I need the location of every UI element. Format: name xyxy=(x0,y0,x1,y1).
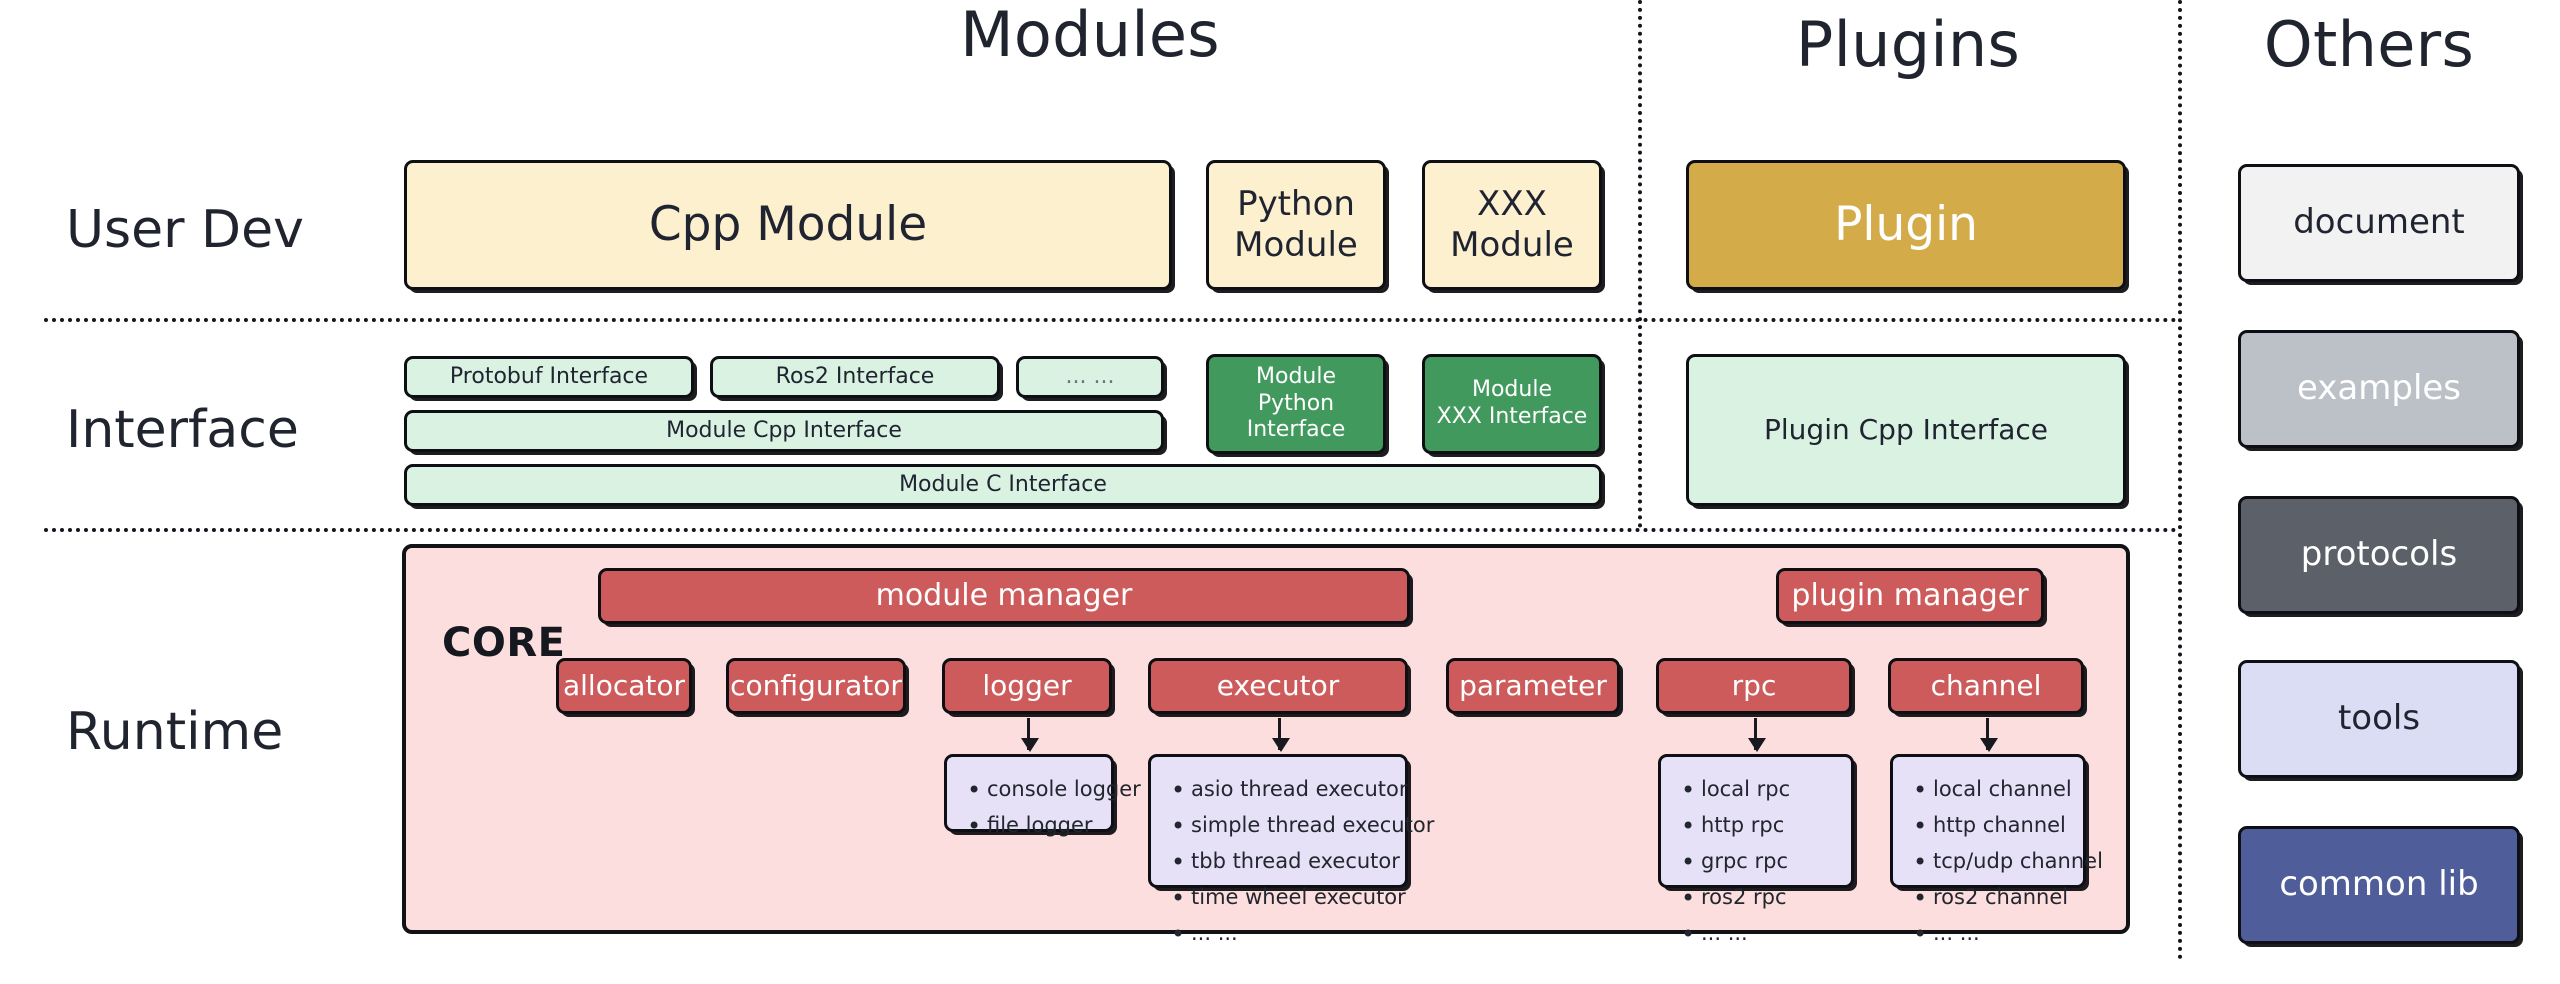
detail-list-item: tbb thread executor xyxy=(1167,843,1395,879)
block-module-python-interface[interactable]: Module Python Interface xyxy=(1206,354,1386,454)
block-cpp-module-label: Cpp Module xyxy=(649,196,927,253)
detail-box-channel: local channelhttp channeltcp/udp channel… xyxy=(1890,754,2086,888)
detail-box-rpc: local rpchttp rpcgrpc rpcros2 rpc... ... xyxy=(1658,754,1854,888)
block-protocols[interactable]: protocols xyxy=(2238,496,2520,614)
block-logger-label: logger xyxy=(982,669,1071,703)
detail-list-item: grpc rpc xyxy=(1677,843,1841,879)
block-document-label: document xyxy=(2293,202,2465,243)
arrow-executor-detail xyxy=(1278,718,1281,750)
block-examples[interactable]: examples xyxy=(2238,330,2520,448)
block-rpc-label: rpc xyxy=(1732,669,1777,703)
block-common-lib-label: common lib xyxy=(2279,864,2478,905)
detail-list-item: console logger xyxy=(963,771,1101,807)
block-allocator-label: allocator xyxy=(563,669,685,703)
detail-box-logger: console loggerfile logger xyxy=(944,754,1114,832)
block-channel[interactable]: channel xyxy=(1888,658,2084,714)
block-plugin-label: Plugin xyxy=(1834,196,1978,253)
detail-list-item: simple thread executor xyxy=(1167,807,1395,843)
block-plugin[interactable]: Plugin xyxy=(1686,160,2126,290)
block-module-xxx-interface[interactable]: Module XXX Interface xyxy=(1422,354,1602,454)
block-python-module[interactable]: Python Module xyxy=(1206,160,1386,290)
detail-list-rpc: local rpchttp rpcgrpc rpcros2 rpc... ... xyxy=(1677,771,1841,952)
block-parameter-label: parameter xyxy=(1459,669,1607,703)
detail-list-item: ros2 channel xyxy=(1909,879,2073,915)
detail-list-logger: console loggerfile logger xyxy=(963,771,1101,843)
divider-userdev-interface xyxy=(44,318,2178,322)
block-xxx-module[interactable]: XXX Module xyxy=(1422,160,1602,290)
block-channel-label: channel xyxy=(1931,669,2042,703)
block-plugin-manager-label: plugin manager xyxy=(1791,578,2028,615)
detail-box-executor: asio thread executorsimple thread execut… xyxy=(1148,754,1408,888)
arrow-channel-detail xyxy=(1986,718,1989,750)
block-cpp-module[interactable]: Cpp Module xyxy=(404,160,1172,290)
detail-list-item: ... ... xyxy=(1677,915,1841,951)
block-module-manager[interactable]: module manager xyxy=(598,568,1410,624)
block-plugin-cpp-interface-label: Plugin Cpp Interface xyxy=(1764,413,2048,447)
detail-list-item: ros2 rpc xyxy=(1677,879,1841,915)
arrow-rpc-detail xyxy=(1754,718,1757,750)
detail-list-item: tcp/udp channel xyxy=(1909,843,2073,879)
block-interface-ellipsis[interactable]: ... ... xyxy=(1016,356,1164,398)
block-plugin-manager[interactable]: plugin manager xyxy=(1776,568,2044,624)
block-configurator-label: configurator xyxy=(730,669,902,703)
block-logger[interactable]: logger xyxy=(942,658,1112,714)
block-module-python-interface-label: Module Python Interface xyxy=(1209,364,1383,444)
block-document[interactable]: document xyxy=(2238,164,2520,282)
block-module-xxx-interface-label: Module XXX Interface xyxy=(1437,377,1588,431)
block-rpc[interactable]: rpc xyxy=(1656,658,1852,714)
detail-list-item: time wheel executor xyxy=(1167,879,1395,915)
detail-list-item: ... ... xyxy=(1167,915,1395,951)
block-plugin-cpp-interface[interactable]: Plugin Cpp Interface xyxy=(1686,354,2126,506)
row-label-runtime: Runtime xyxy=(66,702,283,762)
block-python-module-label: Python Module xyxy=(1234,184,1358,267)
column-title-plugins: Plugins xyxy=(1640,8,2176,81)
divider-interface-runtime xyxy=(44,528,2178,532)
row-label-user-dev: User Dev xyxy=(66,200,304,260)
column-title-modules: Modules xyxy=(540,0,1640,71)
block-ros2-interface[interactable]: Ros2 Interface xyxy=(710,356,1000,398)
detail-list-item: http channel xyxy=(1909,807,2073,843)
block-module-c-interface[interactable]: Module C Interface xyxy=(404,464,1602,506)
block-allocator[interactable]: allocator xyxy=(556,658,692,714)
block-executor-label: executor xyxy=(1217,669,1339,703)
block-protobuf-interface-label: Protobuf Interface xyxy=(450,364,648,391)
detail-list-item: http rpc xyxy=(1677,807,1841,843)
block-common-lib[interactable]: common lib xyxy=(2238,826,2520,944)
block-executor[interactable]: executor xyxy=(1148,658,1408,714)
block-tools[interactable]: tools xyxy=(2238,660,2520,778)
divider-plugins-others xyxy=(2178,0,2182,960)
row-label-interface: Interface xyxy=(66,400,299,460)
detail-list-executor: asio thread executorsimple thread execut… xyxy=(1167,771,1395,952)
block-module-cpp-interface[interactable]: Module Cpp Interface xyxy=(404,410,1164,452)
block-xxx-module-label: XXX Module xyxy=(1450,184,1574,267)
detail-list-item: asio thread executor xyxy=(1167,771,1395,807)
detail-list-item: local rpc xyxy=(1677,771,1841,807)
core-label: CORE xyxy=(442,620,565,666)
block-module-c-interface-label: Module C Interface xyxy=(899,472,1107,499)
column-title-others: Others xyxy=(2180,8,2558,81)
block-examples-label: examples xyxy=(2297,368,2461,409)
detail-list-item: file logger xyxy=(963,807,1101,843)
divider-modules-plugins xyxy=(1638,0,1642,528)
block-module-manager-label: module manager xyxy=(876,578,1133,615)
block-tools-label: tools xyxy=(2338,698,2420,739)
block-interface-ellipsis-label: ... ... xyxy=(1066,364,1115,391)
block-protobuf-interface[interactable]: Protobuf Interface xyxy=(404,356,694,398)
block-configurator[interactable]: configurator xyxy=(726,658,906,714)
block-protocols-label: protocols xyxy=(2301,534,2457,575)
detail-list-item: ... ... xyxy=(1909,915,2073,951)
block-parameter[interactable]: parameter xyxy=(1446,658,1620,714)
arrow-logger-detail xyxy=(1027,718,1030,750)
block-module-cpp-interface-label: Module Cpp Interface xyxy=(666,418,902,445)
detail-list-channel: local channelhttp channeltcp/udp channel… xyxy=(1909,771,2073,952)
detail-list-item: local channel xyxy=(1909,771,2073,807)
block-ros2-interface-label: Ros2 Interface xyxy=(776,364,935,391)
